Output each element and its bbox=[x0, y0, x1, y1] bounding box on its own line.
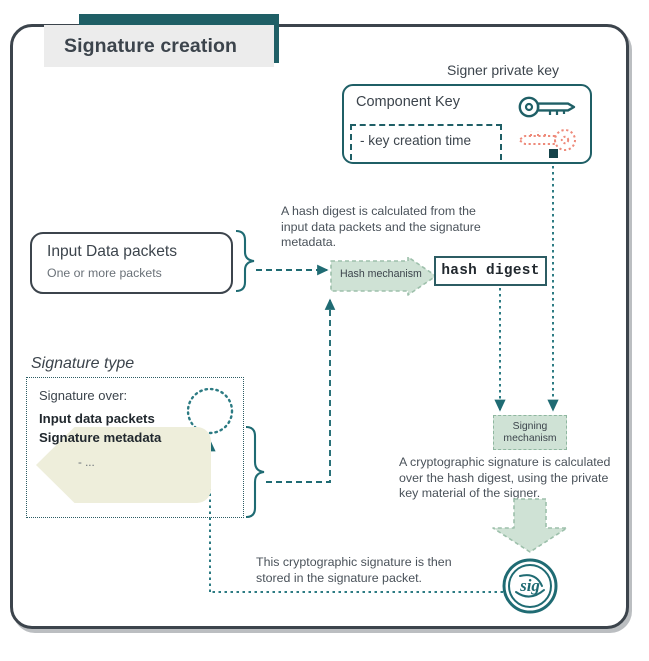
signature-item-signature-metadata: Signature metadata bbox=[39, 430, 161, 445]
component-key-title: Component Key bbox=[356, 94, 460, 110]
signer-private-key-label: Signer private key bbox=[447, 63, 559, 79]
input-data-packets-subtitle: One or more packets bbox=[47, 266, 162, 280]
key-dashed-icon bbox=[515, 126, 577, 154]
signing-mechanism-label: Signing mechanism bbox=[503, 421, 556, 445]
signature-item-ellipsis: - ... bbox=[78, 456, 95, 469]
signature-type-title: Signature type bbox=[31, 355, 134, 373]
signing-mechanism-line2: mechanism bbox=[503, 433, 556, 444]
hash-note-text: A hash digest is calculated from the inp… bbox=[281, 204, 491, 251]
diagram-title-chip: Signature creation bbox=[44, 25, 274, 67]
hash-digest-box: hash digest bbox=[434, 256, 547, 286]
page-title: Signature creation bbox=[44, 35, 237, 58]
signing-mechanism-box: Signing mechanism bbox=[493, 415, 567, 450]
signature-seal-label: sig bbox=[519, 576, 540, 595]
stored-signature-note: This cryptographic signature is then sto… bbox=[256, 555, 486, 586]
hash-digest-label: hash digest bbox=[441, 263, 539, 279]
signature-over-label: Signature over: bbox=[39, 388, 127, 403]
crypto-signature-note: A cryptographic signature is calculated … bbox=[399, 455, 631, 502]
hash-mechanism-label: Hash mechanism bbox=[340, 268, 422, 280]
signature-seal-icon: sig bbox=[500, 556, 560, 616]
key-icon bbox=[518, 94, 578, 120]
key-creation-time-label: - key creation time bbox=[360, 133, 471, 148]
signature-item-input-data-packets: Input data packets bbox=[39, 411, 155, 426]
signing-mechanism-line1: Signing bbox=[513, 421, 548, 432]
input-data-packets-box bbox=[30, 232, 233, 294]
input-data-packets-title: Input Data packets bbox=[47, 243, 177, 261]
key-connector-node bbox=[549, 149, 558, 158]
signing-output-arrow bbox=[490, 498, 570, 554]
